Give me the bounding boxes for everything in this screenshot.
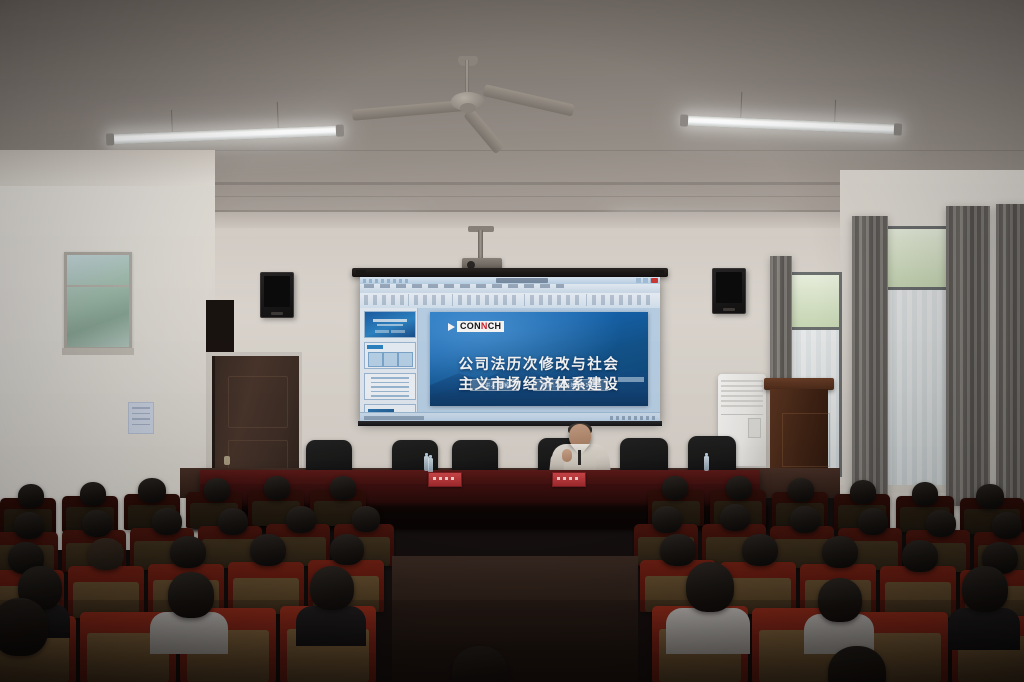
status-text: [364, 416, 424, 420]
name-placard-right: [552, 472, 586, 487]
soffit: [176, 212, 844, 228]
conch-logo-accent: N: [481, 322, 488, 331]
slide-corner-badge: [618, 377, 644, 382]
slide-thumbnail[interactable]: 1: [364, 311, 416, 338]
slide-thumbnail[interactable]: 2: [364, 342, 416, 369]
quick-access-toolbar[interactable]: [363, 279, 409, 283]
conch-logo-prefix: CON: [460, 322, 481, 331]
wall-speaker-right: [712, 268, 746, 314]
projector-pole: [478, 230, 483, 260]
ribbon-commands[interactable]: [360, 293, 660, 309]
conch-logo-suffix: CH: [488, 322, 502, 331]
wall-notice: [128, 402, 154, 434]
fan-blade: [483, 84, 575, 116]
current-slide[interactable]: CONNCH 公司法历次修改与社会 主义市场经济体系建设 主讲人:姜颖 时间:2…: [430, 312, 648, 406]
ceiling-fan: [372, 56, 568, 126]
conch-logo-triangle-icon: [448, 323, 455, 331]
curtain-mid[interactable]: [852, 216, 888, 506]
center-aisle: [392, 556, 638, 682]
left-wall-header: [0, 150, 215, 186]
projection-screen: 1 2 3 4 5: [360, 277, 660, 423]
conch-logo: CONNCH: [448, 321, 504, 332]
water-bottle-3: [704, 456, 709, 471]
slide-thumbnail-panel[interactable]: 1 2 3 4 5: [360, 308, 418, 413]
water-bottle-2: [428, 458, 433, 473]
slide-title-line-1: 公司法历次修改与社会: [430, 356, 648, 376]
window-left-small: [64, 252, 132, 350]
screen-bottom-bar: [358, 421, 662, 426]
curtain-far-right-edge[interactable]: [996, 204, 1024, 504]
slide-editing-area[interactable]: CONNCH 公司法历次修改与社会 主义市场经济体系建设 主讲人:姜颖 时间:2…: [418, 308, 660, 413]
ppt-document-title: [496, 278, 548, 283]
zoom-control[interactable]: [610, 416, 656, 420]
wall-speaker-left: [260, 272, 294, 318]
powerpoint-window[interactable]: 1 2 3 4 5: [360, 277, 660, 423]
screen-roller: [352, 268, 668, 277]
slide-presenter-label: 主讲人:姜颖: [470, 379, 518, 391]
name-placard-left: [428, 472, 462, 487]
lecture-hall-photo: 1 2 3 4 5: [0, 0, 1024, 682]
slide-thumbnail[interactable]: 3: [364, 373, 416, 400]
curtain-near-right[interactable]: [946, 206, 990, 506]
close-icon[interactable]: [651, 278, 658, 283]
slide-date-label: 时间:2024年5月17日: [533, 379, 608, 391]
wooden-podium: [764, 378, 834, 474]
slide-footer: 主讲人:姜颖 时间:2024年5月17日: [430, 379, 648, 391]
